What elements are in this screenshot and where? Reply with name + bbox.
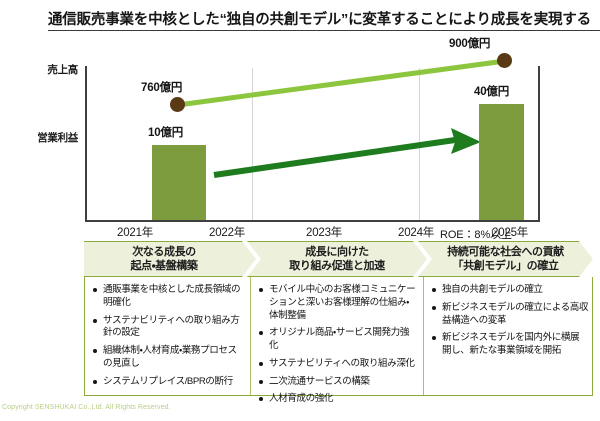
year-label: 2023年 (306, 224, 342, 240)
roadmap-phase-headers: 次なる成長の 起点・基盤構築 成長に向けた 取り組み促進と加速 持続可能な社会へ… (84, 241, 593, 277)
year-label: 2021年 (117, 224, 153, 240)
list-item: 組織体制・人材育成・業務プロセスの見直し (93, 345, 244, 371)
phase-2-bullet-list: モバイル中心のお客様コミュニケーションと深いお客様理解の仕組み・体制整備 オリジ… (259, 284, 417, 406)
chart-x-axis (85, 220, 540, 222)
phase-header-line1: 次なる成長の (132, 246, 196, 258)
phase-header-line2: 「共創モデル」の確立 (452, 260, 558, 272)
growth-chart: 売上高 営業利益 760億円 900億円 10億円 40億円 ROE：8%以上 (0, 36, 600, 218)
title-underline (48, 30, 600, 31)
phase-header-line1: 成長に向けた (305, 246, 369, 258)
year-label: 2024年 (398, 224, 434, 240)
phase-header-line2: 起点・基盤構築 (131, 260, 198, 272)
phase-body-1: 通販事業を中核とした成長領域の明確化 サステナビリティへの取り組み方針の設定 組… (85, 277, 251, 395)
phase-3-bullet-list: 独自の共創モデルの確立 新ビジネスモデルの確立による高収益構造への変革 新ビジネ… (432, 284, 588, 358)
roadmap: 次なる成長の 起点・基盤構築 成長に向けた 取り組み促進と加速 持続可能な社会へ… (84, 241, 593, 396)
phase-1-bullet-list: 通販事業を中核とした成長領域の明確化 サステナビリティへの取り組み方針の設定 組… (93, 284, 244, 388)
list-item: 人材育成の強化 (259, 393, 417, 406)
list-item: オリジナル商品・サービス開発力強化 (259, 327, 417, 353)
phase-header-2: 成長に向けた 取り組み促進と加速 (247, 241, 427, 277)
list-item: モバイル中心のお客様コミュニケーションと深いお客様理解の仕組み・体制整備 (259, 284, 417, 322)
sales-trend-line (178, 61, 505, 105)
list-item: 二次流通サービスの構築 (259, 376, 417, 389)
timeline-years: 2021年 2022年 2023年 2024年 2025年 (0, 224, 600, 242)
phase-body-3: 独自の共創モデルの確立 新ビジネスモデルの確立による高収益構造への変革 新ビジネ… (424, 277, 594, 395)
marker-sales-2021 (170, 97, 185, 112)
list-item: 通販事業を中核とした成長領域の明確化 (93, 284, 244, 310)
profit-arrow-shaft (214, 140, 455, 175)
marker-sales-2025 (497, 53, 512, 68)
year-label: 2022年 (209, 224, 245, 240)
list-item: 新ビジネスモデルを国内外に横展開し、新たな事業領域を開拓 (432, 332, 588, 358)
bar-operating-profit-2021 (152, 145, 206, 220)
data-label-sales-2025: 900億円 (449, 35, 490, 51)
profit-arrow-head (451, 128, 481, 154)
year-label: 2025年 (492, 224, 528, 240)
phase-header-line1: 持続可能な社会への貢献 (447, 246, 564, 258)
data-label-sales-2021: 760億円 (141, 79, 182, 95)
list-item: サステナビリティへの取り組み方針の設定 (93, 315, 244, 341)
phase-body-2: モバイル中心のお客様コミュニケーションと深いお客様理解の仕組み・体制整備 オリジ… (251, 277, 424, 395)
phase-header-line2: 取り組み促進と加速 (289, 260, 384, 272)
list-item: システムリプレイス/BPRの断行 (93, 376, 244, 389)
list-item: 独自の共創モデルの確立 (432, 284, 588, 297)
copyright-footer: Copyright SENSHUKAI Co.,Ltd. All Rights … (2, 404, 171, 411)
list-item: サステナビリティへの取り組み深化 (259, 358, 417, 371)
bar-operating-profit-2025 (479, 104, 524, 220)
page-title: 通信販売事業を中核とした“独自の共創モデル”に変革することにより成長を実現する (48, 8, 592, 29)
data-label-profit-2025: 40億円 (474, 83, 509, 99)
roadmap-phase-bodies: 通販事業を中核とした成長領域の明確化 サステナビリティへの取り組み方針の設定 組… (84, 277, 593, 396)
phase-header-3: 持続可能な社会への貢献 「共創モデル」の確立 (418, 241, 593, 277)
data-label-profit-2021: 10億円 (148, 124, 183, 140)
list-item: 新ビジネスモデルの確立による高収益構造への変革 (432, 302, 588, 328)
phase-header-1: 次なる成長の 起点・基盤構築 (84, 241, 256, 277)
